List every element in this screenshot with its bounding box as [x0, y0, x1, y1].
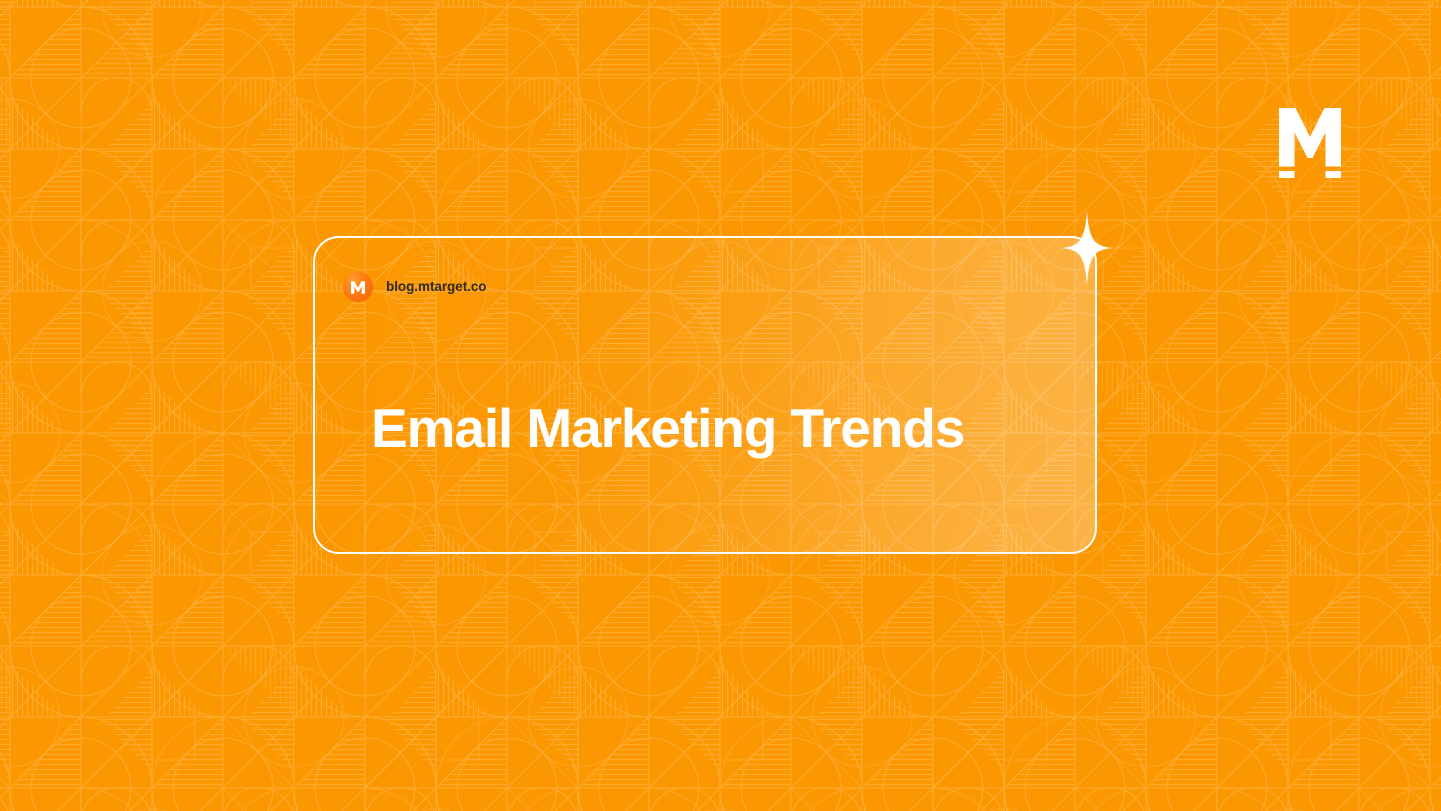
mtarget-avatar [343, 272, 373, 302]
source-url-label: blog.mtarget.co [386, 280, 487, 294]
card-content: blog.mtarget.co Email Marketing Trends [343, 272, 1067, 524]
article-share-card: blog.mtarget.co Email Marketing Trends [313, 236, 1097, 554]
article-title: Email Marketing Trends [371, 398, 964, 460]
source-row: blog.mtarget.co [343, 272, 1067, 302]
mtarget-m-logo [1279, 108, 1341, 178]
share-card-canvas: blog.mtarget.co Email Marketing Trends [0, 0, 1441, 811]
